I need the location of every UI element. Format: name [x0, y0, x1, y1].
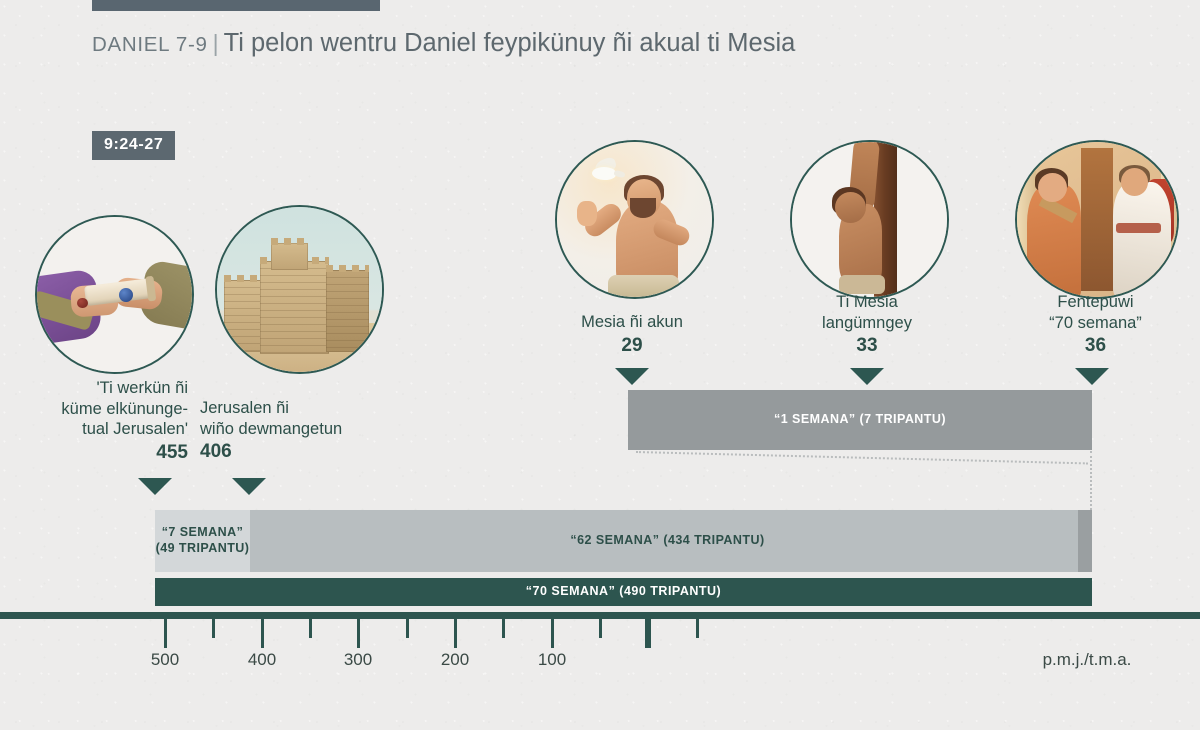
bar-sixtytwo-weeks: “62 SEMANA” (434 TRIPANTU): [250, 510, 1085, 572]
axis-tick-200: [454, 619, 457, 648]
axis-label-100: 100: [538, 650, 566, 670]
axis-label-era: p.m.j./t.m.a.: [1032, 650, 1142, 670]
hands-exchanging-scroll-icon: [37, 217, 192, 372]
event-text-line-1: Mesia ñi akun: [557, 312, 707, 333]
event-label-seventy-weeks-end: Fentepuwi “70 semana” 36: [1018, 292, 1173, 358]
axis-tick-minor-ce50: [696, 619, 699, 638]
timeline-axis: [0, 612, 1200, 619]
connector-dotted-vertical: [1090, 451, 1092, 510]
event-label-messiah-arrives: Mesia ñi akun 29: [557, 312, 707, 357]
axis-tick-500: [164, 619, 167, 648]
event-label-rebuild: Jerusalen ñi wiño dewmangetun 406: [200, 398, 390, 464]
axis-tick-minor-150: [502, 619, 505, 638]
event-text-line-1: Jerusalen ñi: [200, 398, 390, 419]
event-year-messiah-arrives: 29: [557, 334, 707, 358]
marker-triangle-rebuild: [232, 478, 266, 495]
event-text-line-2: küme elkünunge-: [18, 399, 188, 420]
event-year-decree: 455: [18, 441, 188, 465]
title-separator: |: [208, 30, 224, 56]
event-image-baptism: [555, 140, 714, 299]
bar-seven-weeks-line-1: “7 SEMANA”: [156, 525, 250, 541]
event-text-line-1: 'Ti werkün ñi: [18, 378, 188, 399]
axis-tick-400: [261, 619, 264, 648]
event-label-messiah-killed: Ti Mesia langümngey 33: [792, 292, 942, 358]
axis-label-500: 500: [151, 650, 179, 670]
scripture-reference: DANIEL 7-9: [92, 33, 208, 56]
axis-tick-minor-350: [309, 619, 312, 638]
event-image-stake: [790, 140, 949, 299]
bar-final-week-segment: [1078, 510, 1092, 572]
jesus-on-stake-icon: [792, 142, 947, 297]
marker-triangle-seventy-weeks-end: [1075, 368, 1109, 385]
marker-triangle-decree: [138, 478, 172, 495]
marker-triangle-messiah-arrives: [615, 368, 649, 385]
bar-seventy-weeks-total: “70 SEMANA” (490 TRIPANTU): [155, 578, 1092, 606]
cornelius-conversion-icon: [1017, 142, 1177, 297]
event-text-line-2: “70 semana”: [1018, 313, 1173, 334]
event-text-line-3: tual Jerusalen': [18, 419, 188, 440]
axis-label-400: 400: [248, 650, 276, 670]
event-text-line-1: Fentepuwi: [1018, 292, 1173, 313]
axis-tick-minor-50: [599, 619, 602, 638]
event-image-rebuild: [215, 205, 384, 374]
event-label-decree: 'Ti werkün ñi küme elkünunge- tual Jerus…: [18, 378, 188, 465]
event-image-cornelius: [1015, 140, 1179, 299]
event-text-line-2: langümngey: [792, 313, 942, 334]
event-year-rebuild: 406: [200, 440, 390, 464]
axis-tick-300: [357, 619, 360, 648]
bar-one-week: “1 SEMANA” (7 TRIPANTU): [628, 390, 1092, 450]
axis-tick-100: [551, 619, 554, 648]
bar-seven-weeks-line-2: (49 TRIPANTU): [156, 541, 250, 557]
axis-label-300: 300: [344, 650, 372, 670]
event-year-seventy-weeks-end: 36: [1018, 334, 1173, 358]
axis-tick-era-boundary: [645, 619, 651, 648]
connector-dotted-diagonal: [636, 451, 1088, 464]
axis-tick-minor-250: [406, 619, 409, 638]
event-year-messiah-killed: 33: [792, 334, 942, 358]
bar-seven-weeks: “7 SEMANA” (49 TRIPANTU): [155, 510, 250, 572]
page-title: DANIEL 7-9|Ti pelon wentru Daniel feypik…: [92, 29, 795, 58]
header-accent-bar: [92, 0, 380, 11]
verse-badge: 9:24-27: [92, 131, 175, 160]
marker-triangle-messiah-killed: [850, 368, 884, 385]
event-text-line-2: wiño dewmangetun: [200, 419, 390, 440]
title-text: Ti pelon wentru Daniel feypikünuy ñi aku…: [224, 29, 796, 57]
jesus-baptism-dove-icon: [557, 142, 712, 297]
axis-label-200: 200: [441, 650, 469, 670]
event-text-line-1: Ti Mesia: [792, 292, 942, 313]
axis-tick-minor-450: [212, 619, 215, 638]
event-image-decree: [35, 215, 194, 374]
jerusalem-walls-icon: [217, 207, 382, 372]
